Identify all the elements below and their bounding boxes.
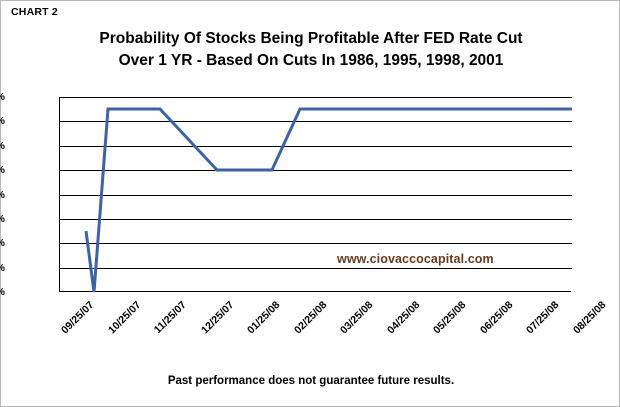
- chart-title: Probability Of Stocks Being Profitable A…: [1, 28, 620, 72]
- disclaimer-text: Past performance does not guarantee futu…: [1, 375, 620, 387]
- ytick-label-70: 70%: [0, 116, 5, 126]
- ytick-label-80: 80%: [0, 92, 5, 102]
- xtick-label-3: 12/25/07: [198, 299, 235, 336]
- xtick-label-8: 05/25/08: [431, 299, 468, 336]
- xtick-label-2: 11/25/07: [152, 299, 189, 336]
- watermark-url: www.ciovaccocapital.com: [337, 252, 494, 266]
- ytick-label-20: 20%: [0, 238, 5, 248]
- chart-title-line-1: Probability Of Stocks Being Profitable A…: [1, 28, 620, 50]
- xtick-label-6: 03/25/08: [338, 299, 375, 336]
- xtick-label-4: 01/25/08: [245, 299, 282, 336]
- ytick-label-40: 40%: [0, 190, 5, 200]
- xtick-label-1: 10/25/07: [105, 299, 142, 336]
- ytick-label-10: 10%: [0, 263, 5, 273]
- xtick-label-0: 09/25/07: [59, 299, 96, 336]
- chart-frame: CHART 2 Probability Of Stocks Being Prof…: [0, 0, 620, 407]
- chart-number-label: CHART 2: [11, 6, 58, 18]
- xtick-label-5: 02/25/08: [291, 299, 328, 336]
- xtick-label-9: 06/25/08: [477, 299, 514, 336]
- plot-frame: [59, 97, 571, 292]
- ytick-label-30: 30%: [0, 214, 5, 224]
- series-line-probability: [60, 97, 572, 292]
- xtick-label-11: 08/25/08: [570, 299, 607, 336]
- ytick-label-50: 50%: [0, 165, 5, 175]
- xtick-label-7: 04/25/08: [384, 299, 421, 336]
- ytick-label-0: 0%: [0, 287, 5, 297]
- ytick-label-60: 60%: [0, 141, 5, 151]
- xtick-label-10: 07/25/08: [524, 299, 561, 336]
- plot-area: 80% 70% 60% 50% 40% 30% 20% 10% 0% 09/25…: [59, 97, 571, 292]
- chart-title-line-2: Over 1 YR - Based On Cuts In 1986, 1995,…: [1, 50, 620, 72]
